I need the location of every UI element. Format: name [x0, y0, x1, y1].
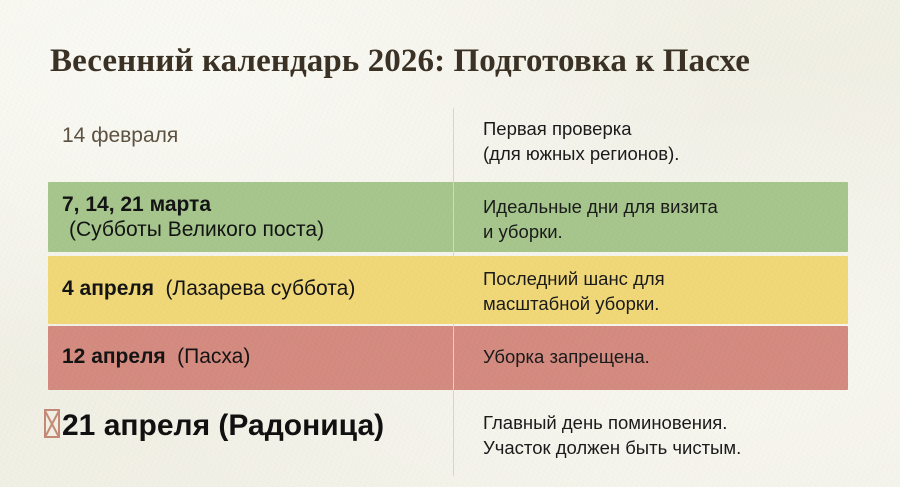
- missing-glyph-icon: [44, 409, 60, 438]
- table-row: 4 апреля (Лазарева суббота) Последний ша…: [0, 256, 900, 324]
- table-row: 21 апреля (Радоница) Главный день помино…: [0, 396, 900, 476]
- row-description-line2: масштабной уборки.: [483, 291, 883, 316]
- row-description-line2: (для южных регионов).: [483, 141, 883, 166]
- row-date-cell: 4 апреля (Лазарева суббота): [62, 276, 442, 301]
- row-date-main: 14 февраля: [62, 124, 178, 147]
- row-description-line2: и уборки.: [483, 219, 883, 244]
- row-description-line1: Идеальные дни для визита: [483, 194, 883, 219]
- row-date-sub: (Субботы Великого поста): [69, 217, 442, 242]
- row-description-line1: Последний шанс для: [483, 266, 883, 291]
- row-description-cell: Последний шанс для масштабной уборки.: [483, 266, 883, 316]
- page-title: Весенний календарь 2026: Подготовка к Па…: [50, 41, 870, 81]
- row-description-cell: Уборка запрещена.: [483, 344, 883, 369]
- row-date-cell: 7, 14, 21 марта (Субботы Великого поста): [62, 192, 442, 242]
- row-description-line1: Главный день поминовения.: [483, 410, 883, 435]
- row-date-cell: 21 апреля (Радоница): [44, 406, 454, 445]
- table-row: 7, 14, 21 марта (Субботы Великого поста)…: [0, 182, 900, 252]
- row-date-main: 4 апреля: [62, 277, 154, 300]
- column-divider: [453, 108, 454, 476]
- row-date-main: 12 апреля: [62, 345, 166, 368]
- table-row: 14 февраля Первая проверка (для южных ре…: [0, 104, 900, 180]
- row-description-line2: Участок должен быть чистым.: [483, 435, 883, 460]
- calendar-table: 14 февраля Первая проверка (для южных ре…: [0, 104, 900, 479]
- calendar-poster: Весенний календарь 2026: Подготовка к Па…: [0, 0, 900, 487]
- row-description-line1: Первая проверка: [483, 116, 883, 141]
- table-row: 12 апреля (Пасха) Уборка запрещена.: [0, 326, 900, 390]
- row-description-cell: Главный день поминовения. Участок должен…: [483, 410, 883, 460]
- row-date-sub: (Пасха): [177, 345, 250, 368]
- row-date-cell: 12 апреля (Пасха): [62, 344, 442, 369]
- row-description-line1: Уборка запрещена.: [483, 344, 883, 369]
- row-date-main: 21 апреля (Радоница): [62, 407, 384, 445]
- row-date-cell: 14 февраля: [62, 122, 442, 149]
- row-description-cell: Идеальные дни для визита и уборки.: [483, 194, 883, 244]
- row-date-sub: (Лазарева суббота): [165, 277, 355, 300]
- row-description-cell: Первая проверка (для южных регионов).: [483, 116, 883, 166]
- row-date-main: 7, 14, 21 марта: [62, 192, 442, 217]
